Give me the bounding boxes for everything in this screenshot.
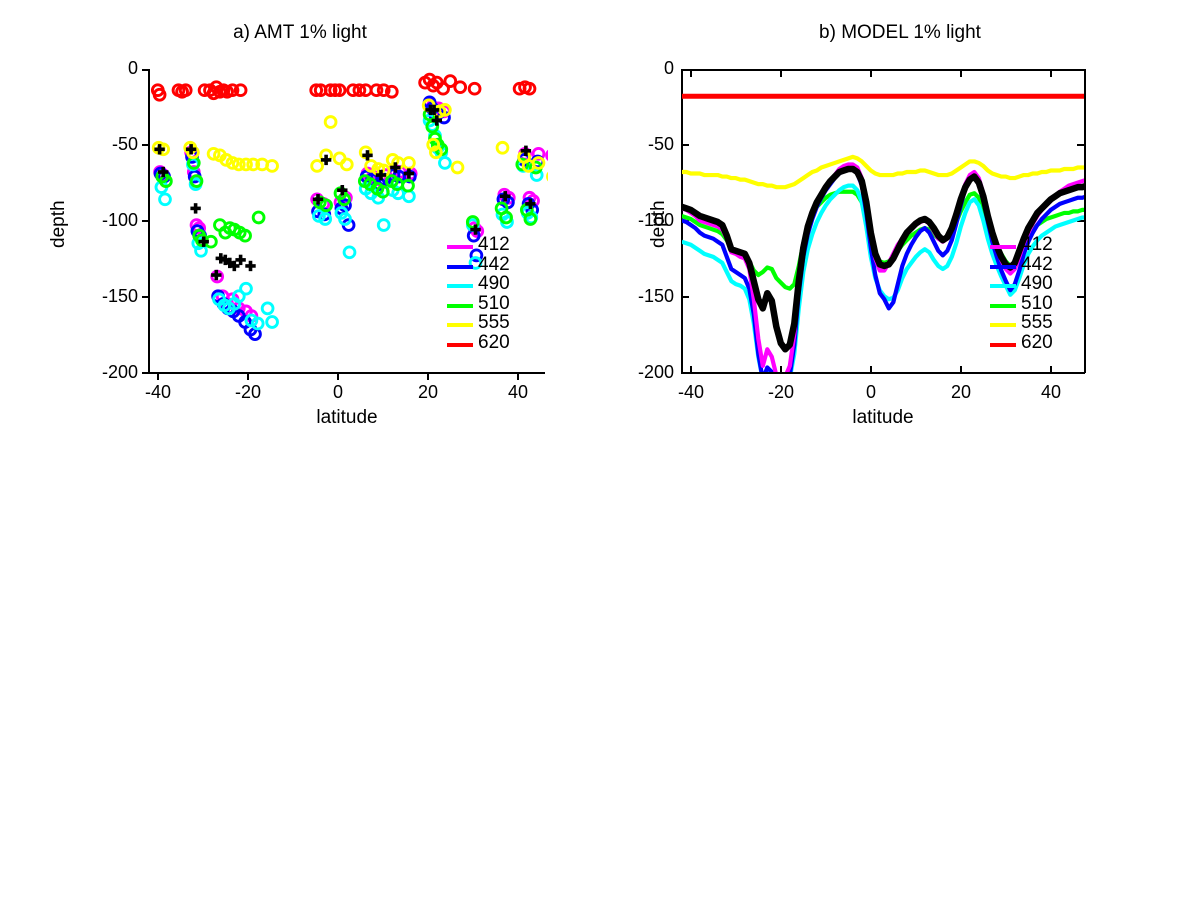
legend-label-555: 555	[478, 313, 510, 333]
legend-swatch-620	[990, 343, 1016, 347]
legend-label-490: 490	[478, 274, 510, 294]
legend-label-442: 442	[1021, 255, 1053, 275]
legend-swatch-490	[447, 284, 473, 288]
legend-swatch-510	[990, 304, 1016, 308]
legend-swatch-412	[990, 245, 1016, 249]
figure-root: a) AMT 1% light depth 0 -50 -100 -150 -2…	[0, 0, 1200, 900]
legend-label-412: 412	[1021, 235, 1053, 255]
legend-label-555: 555	[1021, 313, 1053, 333]
panel-amt: a) AMT 1% light depth 0 -50 -100 -150 -2…	[0, 0, 600, 430]
panel-a-data-surface	[0, 0, 600, 430]
legend-label-510: 510	[478, 294, 510, 314]
legend-label-620: 620	[1021, 333, 1053, 353]
legend-swatch-490	[990, 284, 1016, 288]
legend-label-412: 412	[478, 235, 510, 255]
legend-swatch-510	[447, 304, 473, 308]
panel-b-data-surface	[600, 0, 1200, 430]
legend-swatch-412	[447, 245, 473, 249]
panel-model: b) MODEL 1% light depth 0 -50 -100 -150 …	[600, 0, 1200, 430]
legend-swatch-555	[447, 323, 473, 327]
legend-swatch-442	[447, 265, 473, 269]
legend-label-442: 442	[478, 255, 510, 275]
panel-a-series-555	[153, 100, 558, 182]
panel-a-series-620	[152, 74, 534, 100]
panel-b-line-555	[682, 157, 1092, 187]
legend-label-620: 620	[478, 333, 510, 353]
legend-swatch-555	[990, 323, 1016, 327]
legend-label-510: 510	[1021, 294, 1053, 314]
legend-swatch-442	[990, 265, 1016, 269]
legend-label-490: 490	[1021, 274, 1053, 294]
legend-swatch-620	[447, 343, 473, 347]
panel-a-series-510	[157, 109, 541, 247]
